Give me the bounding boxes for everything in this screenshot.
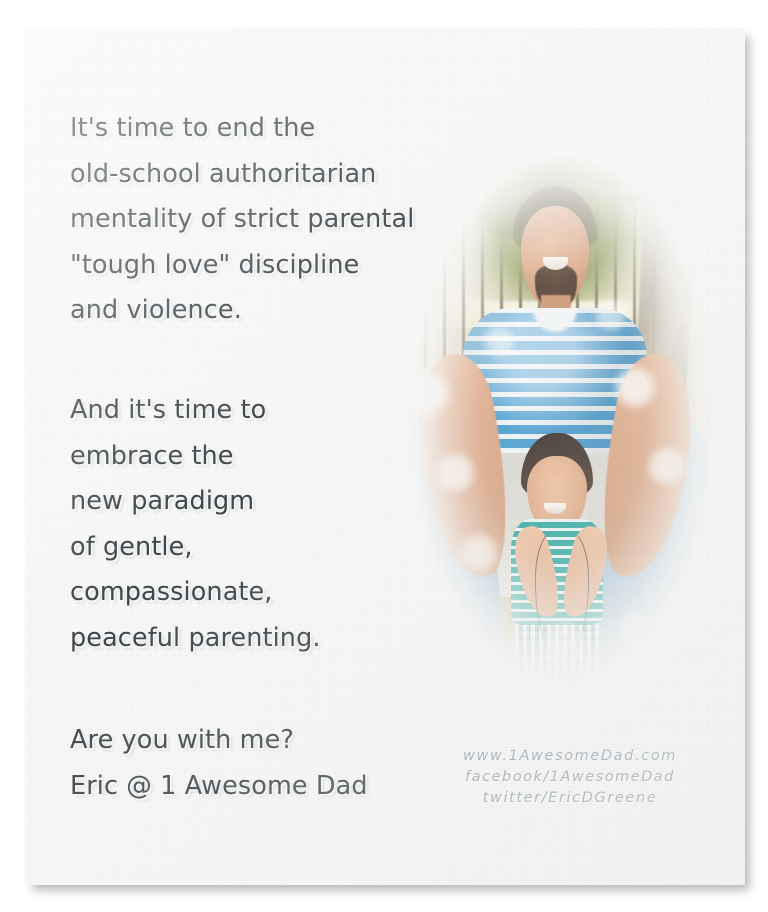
- photo-boy-smile: [544, 503, 566, 514]
- quote-line: It's time to end the: [70, 106, 450, 152]
- photo-tree-canopy: [443, 103, 667, 301]
- quote-line: compassionate,: [70, 570, 400, 616]
- photo-boy-shorts: [515, 605, 599, 684]
- photo-slide-mesh: [480, 598, 615, 742]
- photo-man-hair: [513, 186, 597, 252]
- photo-man-smile: [543, 257, 568, 270]
- facebook-link[interactable]: facebook/1AwesomeDad: [425, 767, 715, 788]
- photo-man-cuff-right: [616, 613, 698, 669]
- quote-line: peaceful parenting.: [70, 616, 400, 662]
- twitter-link[interactable]: twitter/EricDGreene: [425, 788, 715, 809]
- photo-boy-necklace-cord: [535, 526, 589, 660]
- photo-man-striped-shirt: [463, 308, 647, 453]
- photo-man-neck: [541, 295, 571, 325]
- author-signature-line: Eric @ 1 Awesome Dad: [70, 764, 430, 810]
- photo-man-shirt-shading: [463, 308, 647, 453]
- photo-man-laces-left: [421, 665, 462, 700]
- photo-man-face: [521, 206, 589, 308]
- photo-man-shoe-right: [602, 645, 692, 721]
- quote-line: "tough love" discipline: [70, 243, 450, 289]
- quote-paragraph-1: It's time to end the old-school authorit…: [70, 106, 450, 334]
- signature-block: Are you with me? Eric @ 1 Awesome Dad: [70, 718, 430, 809]
- call-to-action-line: Are you with me?: [70, 718, 430, 764]
- social-links-block: www.1AwesomeDad.com facebook/1AwesomeDad…: [425, 746, 715, 809]
- website-link[interactable]: www.1AwesomeDad.com: [425, 746, 715, 767]
- quote-line: And it's time to: [70, 388, 400, 434]
- photo-man-beard: [535, 265, 577, 311]
- quote-line: new paradigm: [70, 479, 400, 525]
- quote-line: mentality of strict parental: [70, 197, 450, 243]
- photo-man-collar: [531, 308, 579, 334]
- photo-man-shoe-left: [402, 645, 492, 721]
- photo-boy-arm-left: [508, 523, 565, 621]
- quote-line: and violence.: [70, 288, 450, 334]
- photo-man-cuff-left: [396, 613, 478, 669]
- quote-card: It's time to end the old-school authorit…: [25, 28, 745, 885]
- photo-slide: [363, 453, 745, 750]
- photo-man-laces-right: [625, 665, 666, 700]
- quote-line: of gentle,: [70, 525, 400, 571]
- photo-man-arm-right: [590, 349, 704, 583]
- photo-man-leg-right: [585, 414, 721, 689]
- photo-boy-arm-right: [556, 523, 613, 621]
- screenshot-stage: It's time to end the old-school authorit…: [0, 0, 768, 912]
- photo-boy-face: [527, 456, 587, 535]
- photo-boy-hair: [521, 433, 593, 496]
- quote-line: old-school authoritarian: [70, 152, 450, 198]
- photo-man-arm-left: [406, 349, 520, 583]
- photo-boy-sandal-left: [523, 674, 555, 707]
- quote-paragraph-2: And it's time to embrace the new paradig…: [70, 388, 400, 661]
- photo-boy-sandal-right: [563, 674, 595, 707]
- photo-tree-trunk: [631, 142, 700, 461]
- photo-boy-striped-shirt: [511, 519, 603, 625]
- quote-line: embrace the: [70, 434, 400, 480]
